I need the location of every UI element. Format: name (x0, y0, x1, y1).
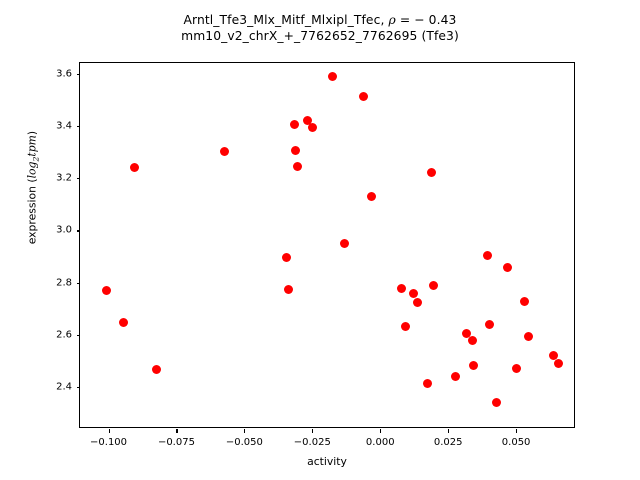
data-point (397, 284, 406, 293)
y-tick-label: 2.4 (42, 381, 72, 392)
y-tick-mark (77, 126, 81, 127)
chart-title-line-2: mm10_v2_chrX_+_7762652_7762695 (Tfe3) (0, 28, 640, 44)
x-tick-label: −0.100 (90, 437, 127, 448)
chart-title-line-1: Arntl_Tfe3_Mlx_Mitf_Mlxipl_Tfec, ρ = − 0… (0, 12, 640, 28)
data-point (427, 168, 436, 177)
y-tick-label: 3.2 (42, 173, 72, 184)
data-point (340, 239, 349, 248)
y-tick-label: 3.0 (42, 225, 72, 236)
data-point (367, 192, 376, 201)
data-point (429, 281, 438, 290)
y-tick-mark (77, 283, 81, 284)
y-tick-label: 2.6 (42, 329, 72, 340)
x-tick-mark (244, 429, 245, 433)
x-tick-mark (380, 429, 381, 433)
y-tick-label: 3.4 (42, 121, 72, 132)
data-point (503, 263, 512, 272)
x-tick-mark (109, 429, 110, 433)
y-axis-label-log: log (25, 162, 38, 179)
x-axis-label: activity (79, 455, 575, 468)
x-tick-mark (176, 429, 177, 433)
data-point (512, 364, 521, 373)
data-point (554, 359, 563, 368)
data-point (409, 289, 418, 298)
y-axis-label-sub: 2 (32, 157, 41, 162)
data-point (524, 332, 533, 341)
y-axis-label: expression (log2tpm) (25, 5, 40, 371)
data-point (401, 322, 410, 331)
plot-data-area (80, 63, 574, 427)
y-tick-label: 3.6 (42, 69, 72, 80)
chart-title: Arntl_Tfe3_Mlx_Mitf_Mlxipl_Tfec, ρ = − 0… (0, 12, 640, 44)
data-point (359, 92, 368, 101)
data-point (308, 123, 317, 132)
data-point (152, 365, 161, 374)
scatter-plot-figure: Arntl_Tfe3_Mlx_Mitf_Mlxipl_Tfec, ρ = − 0… (0, 0, 640, 480)
data-point (220, 147, 229, 156)
data-point (130, 163, 139, 172)
x-tick-mark (516, 429, 517, 433)
y-axis-label-unit: tpm (25, 135, 38, 157)
data-point (284, 285, 293, 294)
data-point (293, 162, 302, 171)
data-point (451, 372, 460, 381)
rho-value: − 0.43 (414, 13, 456, 27)
rho-equals: = (396, 13, 414, 27)
y-tick-mark (77, 335, 81, 336)
data-point (282, 253, 291, 262)
x-tick-label: 0.025 (434, 437, 463, 448)
y-tick-mark (77, 387, 81, 388)
rho-symbol: ρ (389, 13, 396, 27)
data-point (423, 379, 432, 388)
y-tick-mark (77, 178, 81, 179)
data-point (492, 398, 501, 407)
data-point (102, 286, 111, 295)
data-point (291, 146, 300, 155)
x-tick-mark (448, 429, 449, 433)
x-tick-label: −0.050 (226, 437, 263, 448)
y-axis-label-prefix: expression ( (25, 178, 38, 244)
x-tick-label: 0.050 (502, 437, 531, 448)
chart-title-motif: Arntl_Tfe3_Mlx_Mitf_Mlxipl_Tfec (184, 13, 381, 27)
y-tick-label: 2.8 (42, 277, 72, 288)
data-point (290, 120, 299, 129)
y-axis-label-suffix: ) (25, 131, 38, 135)
y-tick-mark (77, 74, 81, 75)
y-tick-mark (77, 230, 81, 231)
data-point (485, 320, 494, 329)
chart-title-comma: , (380, 13, 388, 27)
data-point (483, 251, 492, 260)
x-tick-label: 0.000 (366, 437, 395, 448)
data-point (469, 361, 478, 370)
data-point (328, 72, 337, 81)
data-point (468, 336, 477, 345)
x-tick-mark (312, 429, 313, 433)
data-point (413, 298, 422, 307)
data-point (119, 318, 128, 327)
data-point (520, 297, 529, 306)
x-tick-label: −0.075 (158, 437, 195, 448)
x-tick-label: −0.025 (294, 437, 331, 448)
plot-axes: −0.100−0.075−0.050−0.0250.0000.0250.0502… (79, 62, 575, 428)
